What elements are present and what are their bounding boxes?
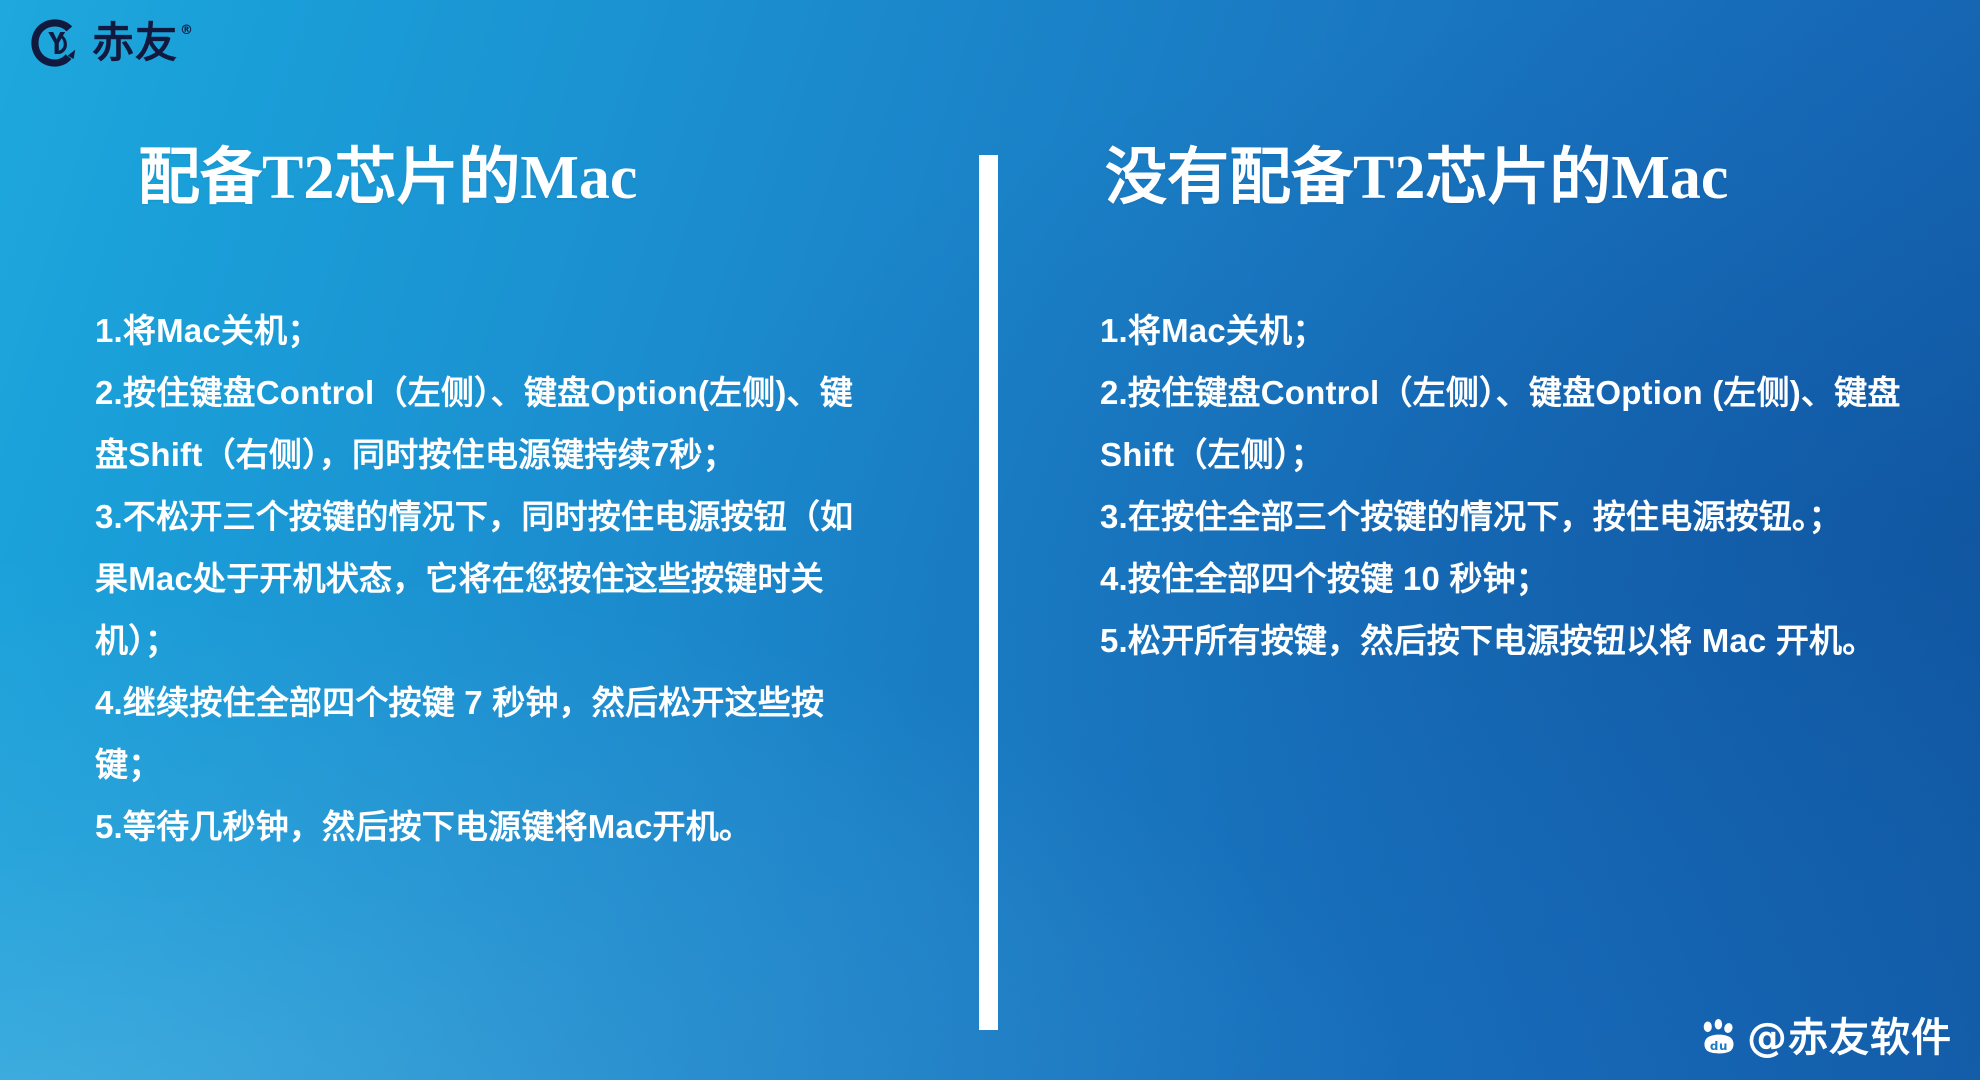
brand-logo: 赤友 ® xyxy=(28,16,194,70)
baidu-paw-icon: du xyxy=(1699,1018,1739,1058)
left-step-4: 4.继续按住全部四个按键 7 秒钟，然后松开这些按键； xyxy=(95,672,885,796)
right-column-heading: 没有配备T2芯片的Mac xyxy=(1105,146,1728,211)
left-step-1: 1.将Mac关机； xyxy=(95,300,885,362)
left-step-5: 5.等待几秒钟，然后按下电源键将Mac开机。 xyxy=(95,796,885,858)
left-column-heading: 配备T2芯片的Mac xyxy=(138,146,637,211)
right-step-3: 3.在按住全部三个按键的情况下，按住电源按钮。； xyxy=(1100,486,1955,548)
svg-text:du: du xyxy=(1710,1039,1728,1053)
left-step-2: 2.按住键盘Control（左侧）、键盘Option(左侧)、键盘Shift（右… xyxy=(95,362,885,486)
right-step-5: 5.松开所有按键，然后按下电源按钮以将 Mac 开机。 xyxy=(1100,610,1955,672)
brand-wordmark-text: 赤友 xyxy=(92,22,178,64)
watermark: du @赤友软件 xyxy=(1699,1018,1952,1058)
chiyou-swirl-logo-icon xyxy=(28,16,82,70)
brand-wordmark: 赤友 ® xyxy=(92,22,194,64)
registered-trademark-icon: ® xyxy=(180,24,194,37)
right-column-steps: 1.将Mac关机； 2.按住键盘Control（左侧）、键盘Option (左侧… xyxy=(1100,300,1955,672)
column-t2-mac: 配备T2芯片的Mac 1.将Mac关机； 2.按住键盘Control（左侧）、键… xyxy=(0,0,979,1080)
right-step-1: 1.将Mac关机； xyxy=(1100,300,1955,362)
left-step-3: 3.不松开三个按键的情况下，同时按住电源按钮（如果Mac处于开机状态，它将在您按… xyxy=(95,486,885,672)
right-step-4: 4.按住全部四个按键 10 秒钟； xyxy=(1100,548,1955,610)
column-divider xyxy=(979,155,998,1030)
column-non-t2-mac: 没有配备T2芯片的Mac 1.将Mac关机； 2.按住键盘Control（左侧）… xyxy=(998,0,1980,1080)
right-step-2: 2.按住键盘Control（左侧）、键盘Option (左侧)、键盘Shift（… xyxy=(1100,362,1955,486)
left-column-steps: 1.将Mac关机； 2.按住键盘Control（左侧）、键盘Option(左侧)… xyxy=(95,300,885,858)
watermark-text: @赤友软件 xyxy=(1747,1018,1952,1058)
